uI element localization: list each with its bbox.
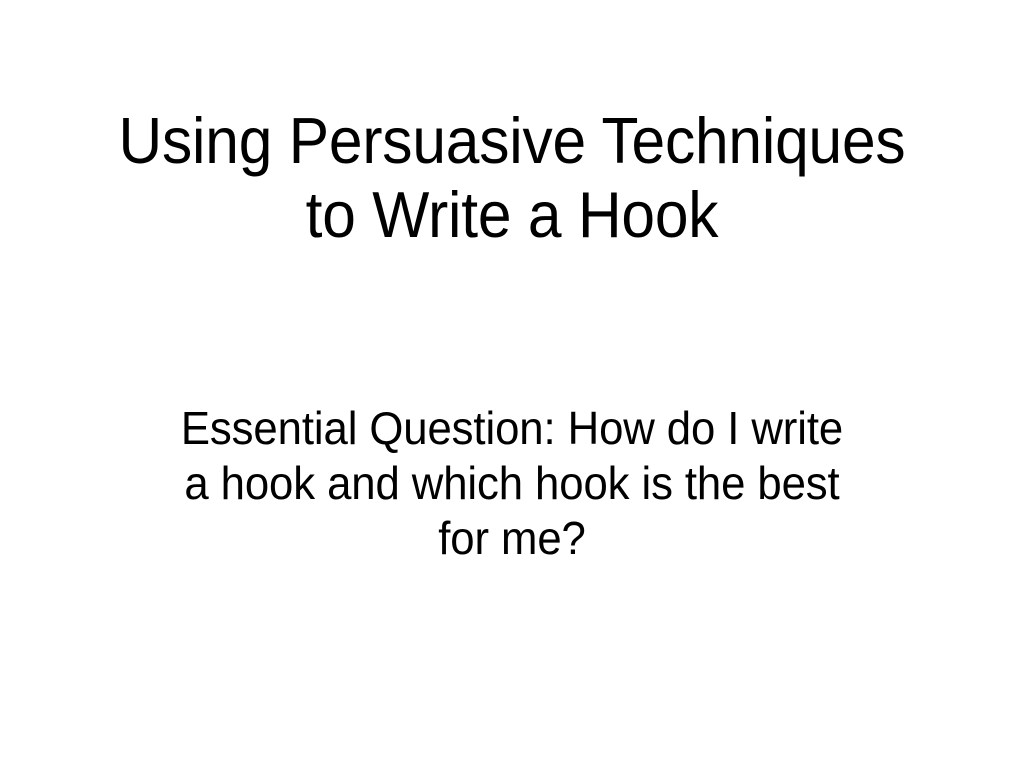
essential-question-text: Essential Question: How do I write a hoo… bbox=[162, 401, 862, 566]
essential-question-line-1: Essential Question: How do I write bbox=[180, 401, 845, 456]
essential-question-line-2: a hook and which hook is the best bbox=[180, 456, 845, 511]
slide-title-line-1: Using Persuasive Techniques bbox=[94, 104, 931, 178]
slide-title-line-2: to Write a Hook bbox=[94, 178, 931, 252]
presentation-slide: Using Persuasive Techniques to Write a H… bbox=[0, 0, 1024, 768]
essential-question-line-3: for me? bbox=[180, 511, 845, 566]
slide-title: Using Persuasive Techniques to Write a H… bbox=[62, 104, 962, 252]
